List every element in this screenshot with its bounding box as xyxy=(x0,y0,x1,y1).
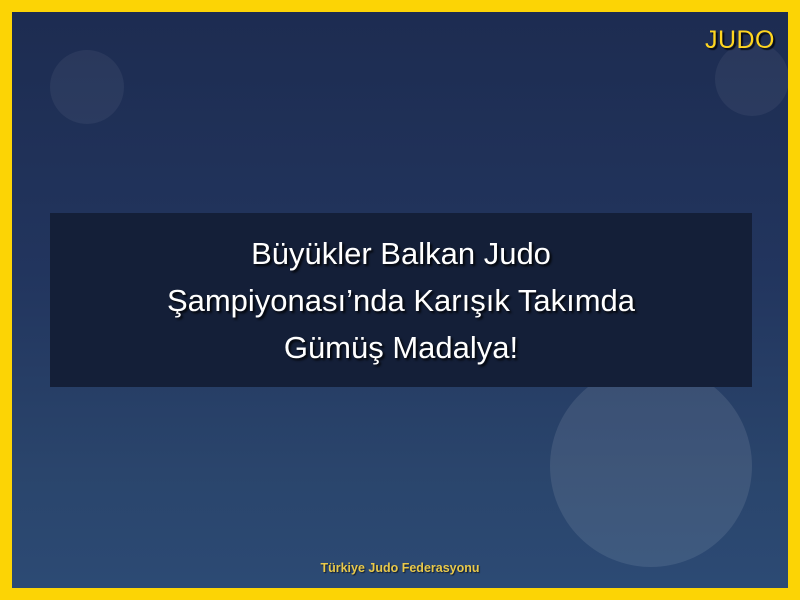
decorative-circle-bottom-right xyxy=(550,365,752,567)
presentation-slide: JUDO Büyükler Balkan Judo Şampiyonası’nd… xyxy=(0,0,800,600)
footer-organization-label: Türkiye Judo Federasyonu xyxy=(12,561,788,575)
brand-title: JUDO xyxy=(705,26,775,55)
headline-text: Büyükler Balkan Judo Şampiyonası’nda Kar… xyxy=(50,230,752,371)
headline-panel: Büyükler Balkan Judo Şampiyonası’nda Kar… xyxy=(50,213,752,387)
decorative-circle-top-left xyxy=(50,50,124,124)
slide-canvas: JUDO Büyükler Balkan Judo Şampiyonası’nd… xyxy=(12,12,788,588)
